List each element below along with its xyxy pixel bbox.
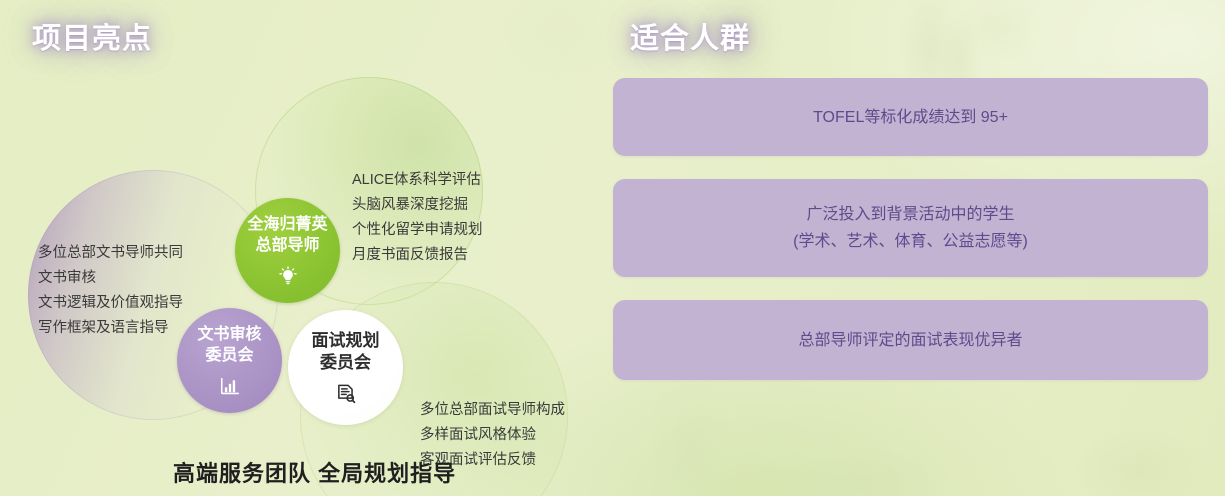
detail-line: 个性化留学申请规划 (352, 218, 483, 243)
bar-chart-icon (219, 375, 241, 397)
node-mentor[interactable]: 全海归菁英 总部导师 (235, 198, 340, 303)
detail-line: 文书审核 (38, 266, 183, 291)
audience-card[interactable]: 总部导师评定的面试表现优异者 (613, 300, 1208, 380)
detail-line: 头脑风暴深度挖掘 (352, 193, 483, 218)
audience-card-text: 总部导师评定的面试表现优异者 (798, 327, 1022, 354)
document-report-icon (335, 383, 357, 405)
card-line: 广泛投入到背景活动中的学生 (793, 201, 1028, 228)
poster-stage: 项目亮点 多位总部文书导师共同 文书审核 文书逻辑及价值观指导 写作框架及语言指… (0, 0, 1225, 496)
audience-card-text: 广泛投入到背景活动中的学生 (学术、艺术、体育、公益志愿等) (793, 201, 1028, 255)
card-line: (学术、艺术、体育、公益志愿等) (793, 228, 1028, 255)
service-team-diagram: 多位总部文书导师共同 文书审核 文书逻辑及价值观指导 写作框架及语言指导 ALI… (0, 60, 610, 496)
node-label-line: 面试规划 (312, 331, 380, 350)
card-line: TOFEL等标化成绩达到 95+ (813, 104, 1008, 131)
detail-line: 月度书面反馈报告 (352, 243, 483, 268)
detail-line: 多位总部文书导师共同 (38, 241, 183, 266)
detail-line: ALICE体系科学评估 (352, 168, 483, 193)
detail-line: 文书逻辑及价值观指导 (38, 291, 183, 316)
node-document-committee-label: 文书审核 委员会 (197, 324, 261, 366)
detail-line: 多位总部面试导师构成 (420, 398, 565, 423)
detail-text-documents: 多位总部文书导师共同 文书审核 文书逻辑及价值观指导 写作框架及语言指导 (38, 241, 183, 341)
card-line: 总部导师评定的面试表现优异者 (798, 327, 1022, 354)
detail-text-mentor: ALICE体系科学评估 头脑风暴深度挖掘 个性化留学申请规划 月度书面反馈报告 (352, 168, 483, 268)
diagram-caption: 高端服务团队 全局规划指导 (173, 456, 456, 488)
audience-card-list: TOFEL等标化成绩达到 95+ 广泛投入到背景活动中的学生 (学术、艺术、体育… (613, 78, 1208, 403)
audience-card[interactable]: 广泛投入到背景活动中的学生 (学术、艺术、体育、公益志愿等) (613, 179, 1208, 277)
detail-line: 多样面试风格体验 (420, 423, 565, 448)
node-mentor-label: 全海归菁英 总部导师 (247, 214, 327, 256)
left-section-title: 项目亮点 (32, 25, 152, 54)
node-label-line: 文书审核 (197, 326, 261, 343)
node-label-line: 总部导师 (255, 237, 319, 254)
node-label-line: 全海归菁英 (247, 216, 327, 233)
node-document-committee[interactable]: 文书审核 委员会 (177, 308, 282, 413)
node-interview-committee[interactable]: 面试规划 委员会 (288, 310, 403, 425)
detail-line: 写作框架及语言指导 (38, 316, 183, 341)
right-section-title: 适合人群 (630, 25, 750, 54)
node-interview-committee-label: 面试规划 委员会 (312, 330, 380, 374)
node-label-line: 委员会 (320, 353, 371, 372)
node-label-line: 委员会 (205, 347, 253, 364)
lightbulb-icon (277, 265, 299, 287)
audience-card-text: TOFEL等标化成绩达到 95+ (813, 104, 1008, 131)
audience-card[interactable]: TOFEL等标化成绩达到 95+ (613, 78, 1208, 156)
